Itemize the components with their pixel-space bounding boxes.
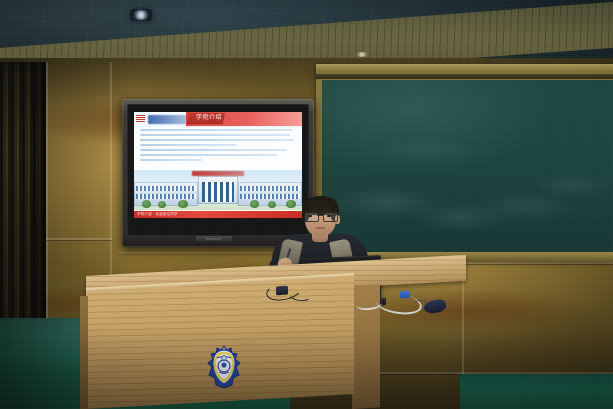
wall-panel-seam [46, 62, 48, 348]
presenter-mouth [316, 227, 325, 229]
window-curtain [0, 62, 46, 347]
presenter-eye [308, 215, 312, 217]
building-signboard [192, 171, 244, 176]
building-columns [202, 182, 234, 202]
lecture-hall-photo: 学院介绍 学院介绍 · 欢迎 [0, 0, 613, 409]
presenter-eye [327, 215, 331, 217]
university-logo [148, 115, 188, 124]
slide-stripe-decoration [136, 115, 145, 123]
slide-footer-text: 学院介绍 · 欢迎各位同学 [137, 211, 178, 218]
slide-body-text [140, 129, 296, 169]
wooden-lecture-podium [86, 277, 354, 409]
wall-panel-seam [46, 238, 112, 240]
podium-left-edge [80, 296, 88, 409]
soffit-downlight [356, 52, 368, 57]
police-academy-emblem [206, 345, 242, 389]
curtain-shading [0, 62, 46, 347]
usb-connector [400, 291, 410, 299]
display-brand-plate: DISPLAY [196, 236, 232, 242]
chalkboard-top-rail [316, 64, 613, 73]
slide-title-text: 学院介绍 [192, 114, 226, 123]
green-carpet-floor [460, 374, 613, 409]
recessed-ceiling-spotlight [132, 10, 150, 20]
chalkboard-top-shadow [316, 74, 613, 79]
wood-grain [86, 277, 354, 409]
